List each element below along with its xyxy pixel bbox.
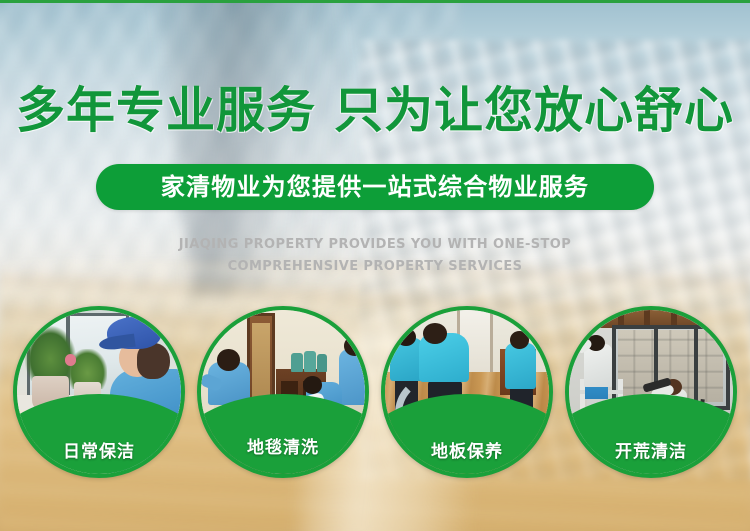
subtitle-line-2: COMPREHENSIVE PROPERTY SERVICES	[0, 256, 750, 278]
service-circle-floor-maintenance[interactable]: 地板保养	[381, 306, 553, 478]
label-arc	[565, 394, 737, 478]
tagline-pill: 家清物业为您提供一站式综合物业服务	[96, 164, 654, 210]
label-arc	[197, 394, 369, 478]
english-subtitle: JIAQING PROPERTY PROVIDES YOU WITH ONE-S…	[0, 234, 750, 278]
label-arc	[13, 394, 185, 478]
tagline-text: 家清物业为您提供一站式综合物业服务	[161, 174, 589, 200]
subtitle-line-1: JIAQING PROPERTY PROVIDES YOU WITH ONE-S…	[0, 234, 750, 256]
service-circle-row: 日常保洁 地毯清洗	[13, 306, 737, 482]
top-accent-rule	[0, 0, 750, 3]
service-label-carpet-cleaning: 地毯清洗	[201, 438, 365, 458]
promo-banner: 多年专业服务 只为让您放心舒心 家清物业为您提供一站式综合物业服务 JIAQIN…	[0, 0, 750, 531]
service-label-floor-maintenance: 地板保养	[385, 442, 549, 462]
label-arc	[381, 394, 553, 478]
service-label-daily-cleaning: 日常保洁	[17, 442, 181, 462]
service-circle-daily-cleaning[interactable]: 日常保洁	[13, 306, 185, 478]
service-circle-carpet-cleaning[interactable]: 地毯清洗	[197, 306, 369, 478]
headline: 多年专业服务 只为让您放心舒心	[0, 84, 750, 138]
service-label-post-construction-cleaning: 开荒清洁	[569, 442, 733, 462]
service-circle-post-construction-cleaning[interactable]: 开荒清洁	[565, 306, 737, 478]
